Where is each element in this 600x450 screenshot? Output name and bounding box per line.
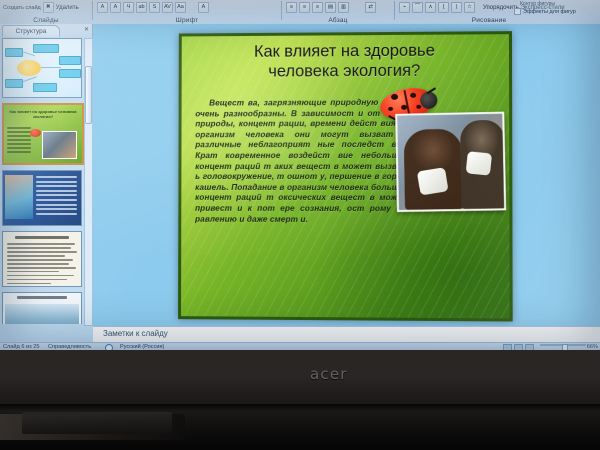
align-center-icon[interactable]: ≡ (299, 2, 310, 13)
slide-title-line1: Как влияет на здоровье (254, 42, 435, 61)
ladybug-spot (388, 107, 393, 111)
ribbon-separator (92, 1, 93, 20)
ladybug-spot (401, 105, 407, 110)
thumbnail-body-lines (7, 243, 77, 287)
tab-outline[interactable]: Структура (2, 25, 60, 37)
ladybug-spot (410, 93, 416, 98)
font-buttons: A A Ч ab S AV Aa A (94, 1, 280, 14)
thumbnail-list[interactable]: Как влияет на здоровье человека экология… (2, 38, 84, 324)
italic-icon[interactable]: A (110, 2, 121, 13)
shadow-icon[interactable]: S (149, 2, 160, 13)
thumbnail-body-lines (7, 127, 31, 157)
delete-slide-button[interactable]: Удалить (56, 5, 79, 11)
slides-buttons: Создать слайд ✖ Удалить (0, 1, 92, 14)
shape-effects-label: Эффекты для фигур (523, 9, 576, 15)
justify-icon[interactable]: ▤ (325, 2, 336, 13)
slide-title-line2: человека экология? (197, 60, 492, 81)
keyboard-area (22, 412, 172, 434)
slide-editing-stage[interactable]: Как влияет на здоровье человека экология… (93, 24, 600, 326)
diagram-center-node (17, 60, 41, 76)
pane-tab-bar: Структура ✕ (0, 24, 92, 37)
ladybug-icon (30, 129, 41, 137)
paragraph-buttons: ≡ ≡ ≡ ▤ ▥ ⇄ (283, 1, 393, 14)
checkbox-icon[interactable] (514, 8, 521, 15)
diagram-link (41, 67, 61, 68)
shape-outline-button[interactable]: Контур фигуры (520, 1, 555, 7)
slide-title[interactable]: Как влияет на здоровье человека экология… (197, 40, 492, 82)
delete-icon[interactable]: ✖ (43, 2, 54, 13)
thumbnail-photo (5, 175, 33, 219)
thumbnail-body-lines (36, 176, 77, 220)
shape-paren-icon[interactable]: ) (451, 2, 462, 13)
ribbon-group-drawing: ⌁ ⌒ ∧ { ) ☆ Упорядочить Экспресс-стили Р… (396, 0, 582, 24)
acer-logo: acer (310, 365, 348, 383)
ribbon-separator (281, 1, 282, 20)
new-slide-button[interactable]: Создать слайд (3, 5, 41, 11)
shape-chevron-icon[interactable]: ∧ (425, 2, 436, 13)
ribbon-group-label-font: Шрифт (94, 17, 280, 24)
shape-star-icon[interactable]: ☆ (464, 2, 475, 13)
shape-effects-button[interactable]: Эффекты для фигур (514, 8, 576, 15)
ribbon-separator (394, 1, 395, 20)
person-front (404, 129, 464, 210)
tissue (417, 167, 449, 195)
slide-thumbnail-pane[interactable]: Структура ✕ (0, 24, 93, 326)
thumbnail-item-diagram[interactable] (2, 38, 82, 98)
diagram-node (5, 79, 23, 88)
ribbon-group-label-paragraph: Абзац (283, 17, 393, 24)
thumbnail-item-blue[interactable] (2, 170, 82, 226)
thumbnail-photo (42, 131, 77, 159)
shape-brace-icon[interactable]: { (438, 2, 449, 13)
person-back (460, 120, 506, 209)
tissue (466, 151, 492, 176)
shape-arc-icon[interactable]: ⌒ (412, 2, 423, 13)
diagram-link (21, 76, 36, 82)
underline-icon[interactable]: Ч (123, 2, 134, 13)
ladybug-spot (391, 94, 398, 100)
char-spacing-icon[interactable]: AV (162, 2, 173, 13)
close-pane-icon[interactable]: ✕ (84, 26, 89, 33)
current-slide[interactable]: Как влияет на здоровье человека экология… (178, 31, 513, 321)
align-left-icon[interactable]: ≡ (286, 2, 297, 13)
text-direction-icon[interactable]: ⇄ (365, 2, 376, 13)
strikethrough-icon[interactable]: ab (136, 2, 147, 13)
bezel-sheen (0, 350, 600, 396)
thumbnail-item-text[interactable] (2, 231, 82, 287)
ribbon-group-font: A A Ч ab S AV Aa A Шрифт (94, 0, 280, 24)
thumbnail-item-sea[interactable] (2, 292, 82, 324)
align-right-icon[interactable]: ≡ (312, 2, 323, 13)
diagram-node (33, 44, 59, 53)
thumbnail-photo (5, 304, 79, 324)
ribbon-group-label-slides: Слайды (0, 17, 92, 24)
shape-scribble-icon[interactable]: ⌁ (399, 2, 410, 13)
diagram-node (33, 83, 57, 92)
status-bar: Слайд 6 из 25 Справедливость Русский (Ро… (0, 342, 600, 350)
bold-icon[interactable]: A (97, 2, 108, 13)
diagram-node (59, 69, 81, 78)
change-case-icon[interactable]: Aa (175, 2, 186, 13)
powerpoint-ribbon: Создать слайд ✖ Удалить Слайды A A Ч ab … (0, 0, 600, 25)
thumbnail-title: Как влияет на здоровье человека экология… (8, 109, 78, 119)
diagram-node (5, 48, 23, 57)
thumbnail-title-bar (17, 296, 67, 299)
laptop-screen: Создать слайд ✖ Удалить Слайды A A Ч ab … (0, 0, 600, 350)
people-sneezing-photo[interactable] (395, 112, 506, 212)
thumbnail-item-current[interactable]: Как влияет на здоровье человека экология… (2, 103, 84, 165)
ribbon-group-paragraph: ≡ ≡ ≡ ▤ ▥ ⇄ Абзац (283, 0, 393, 24)
ladybug-spot (416, 105, 421, 109)
thumbnail-title-bar (15, 236, 69, 239)
columns-icon[interactable]: ▥ (338, 2, 349, 13)
notes-pane[interactable]: Заметки к слайду (93, 326, 600, 343)
font-color-icon[interactable]: A (198, 2, 209, 13)
ribbon-group-slides: Создать слайд ✖ Удалить Слайды (0, 0, 92, 24)
laptop-photo: Создать слайд ✖ Удалить Слайды A A Ч ab … (0, 0, 600, 450)
thumbnail-scrollbar-thumb[interactable] (85, 66, 92, 124)
ribbon-group-label-drawing: Рисование (396, 17, 582, 24)
diagram-node (59, 56, 81, 65)
notes-placeholder: Заметки к слайду (103, 329, 168, 338)
